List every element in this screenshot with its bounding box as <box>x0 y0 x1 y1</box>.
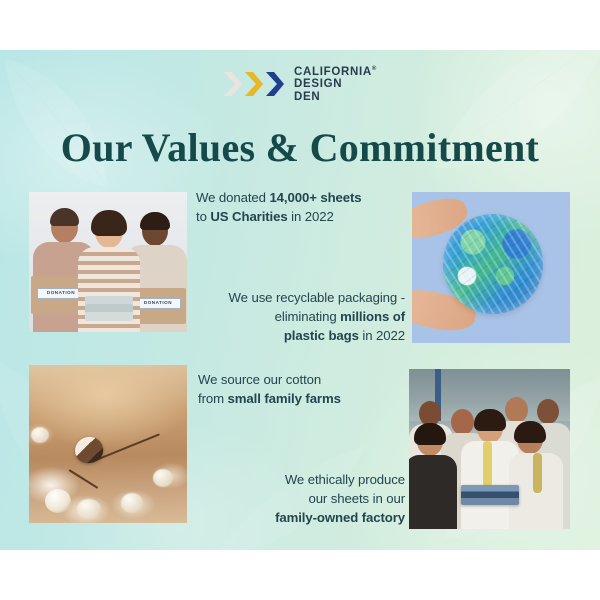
emphasis-text: plastic bags <box>284 328 359 343</box>
body-text: to <box>196 209 210 224</box>
photo-plastic-bag-globe <box>412 192 570 343</box>
body-text: in 2022 <box>288 209 334 224</box>
body-text: eliminating <box>275 309 341 324</box>
value-statement-line: from small family farms <box>198 389 408 408</box>
emphasis-text: family-owned factory <box>275 510 405 525</box>
emphasis-text: millions of <box>340 309 405 324</box>
emphasis-text: 14,000+ sheets <box>269 190 361 205</box>
value-statement-donated: We donated 14,000+ sheetsto US Charities… <box>196 188 410 226</box>
body-text: We donated <box>196 190 269 205</box>
brand-name-line-1: CALIFORNIA® <box>294 66 377 78</box>
donation-box-label: DONATION <box>135 298 181 309</box>
value-statement-line: to US Charities in 2022 <box>196 207 410 226</box>
value-statement-line: plastic bags in 2022 <box>190 326 405 345</box>
chevron-cream-icon <box>223 71 243 97</box>
body-text: We source our cotton <box>198 372 321 387</box>
body-text: in 2022 <box>359 328 405 343</box>
value-statement-line: We donated 14,000+ sheets <box>196 188 410 207</box>
body-text: We ethically produce <box>285 472 405 487</box>
emphasis-text: US Charities <box>210 209 287 224</box>
photo-donation-volunteers: DONATION DONATION <box>29 192 187 332</box>
value-statement-line: We ethically produce <box>200 470 405 489</box>
brand-name-line-3: DEN <box>294 91 377 103</box>
value-statement-line: family-owned factory <box>200 508 405 527</box>
logo-chevron-marks <box>223 71 285 97</box>
value-statement-cotton: We source our cottonfrom small family fa… <box>198 370 408 408</box>
brand-logo: CALIFORNIA® DESIGN DEN <box>0 66 600 103</box>
brand-wordmark: CALIFORNIA® DESIGN DEN <box>294 66 377 103</box>
infographic-page: CALIFORNIA® DESIGN DEN Our Values & Comm… <box>0 0 600 600</box>
value-statement-line: eliminating millions of <box>190 307 405 326</box>
value-statement-line: our sheets in our <box>200 489 405 508</box>
photo-cotton-field <box>29 365 187 523</box>
photo-factory-workers <box>409 369 570 529</box>
page-title: Our Values & Commitment <box>0 124 600 171</box>
body-text: our sheets in our <box>308 491 405 506</box>
value-statement-line: We use recyclable packaging - <box>190 288 405 307</box>
chevron-gold-icon <box>244 71 264 97</box>
globe-shape <box>443 214 543 314</box>
value-statement-packaging: We use recyclable packaging -eliminating… <box>190 288 405 345</box>
value-statement-line: We source our cotton <box>198 370 408 389</box>
registered-trademark-icon: ® <box>372 66 377 72</box>
brand-name-line-2: DESIGN <box>294 78 377 90</box>
chevron-navy-icon <box>265 71 285 97</box>
body-text: We use recyclable packaging - <box>229 290 405 305</box>
folded-sheets-shape <box>461 485 519 505</box>
body-text: from <box>198 391 228 406</box>
emphasis-text: small family farms <box>228 391 341 406</box>
value-statement-factory: We ethically produceour sheets in ourfam… <box>200 470 405 527</box>
